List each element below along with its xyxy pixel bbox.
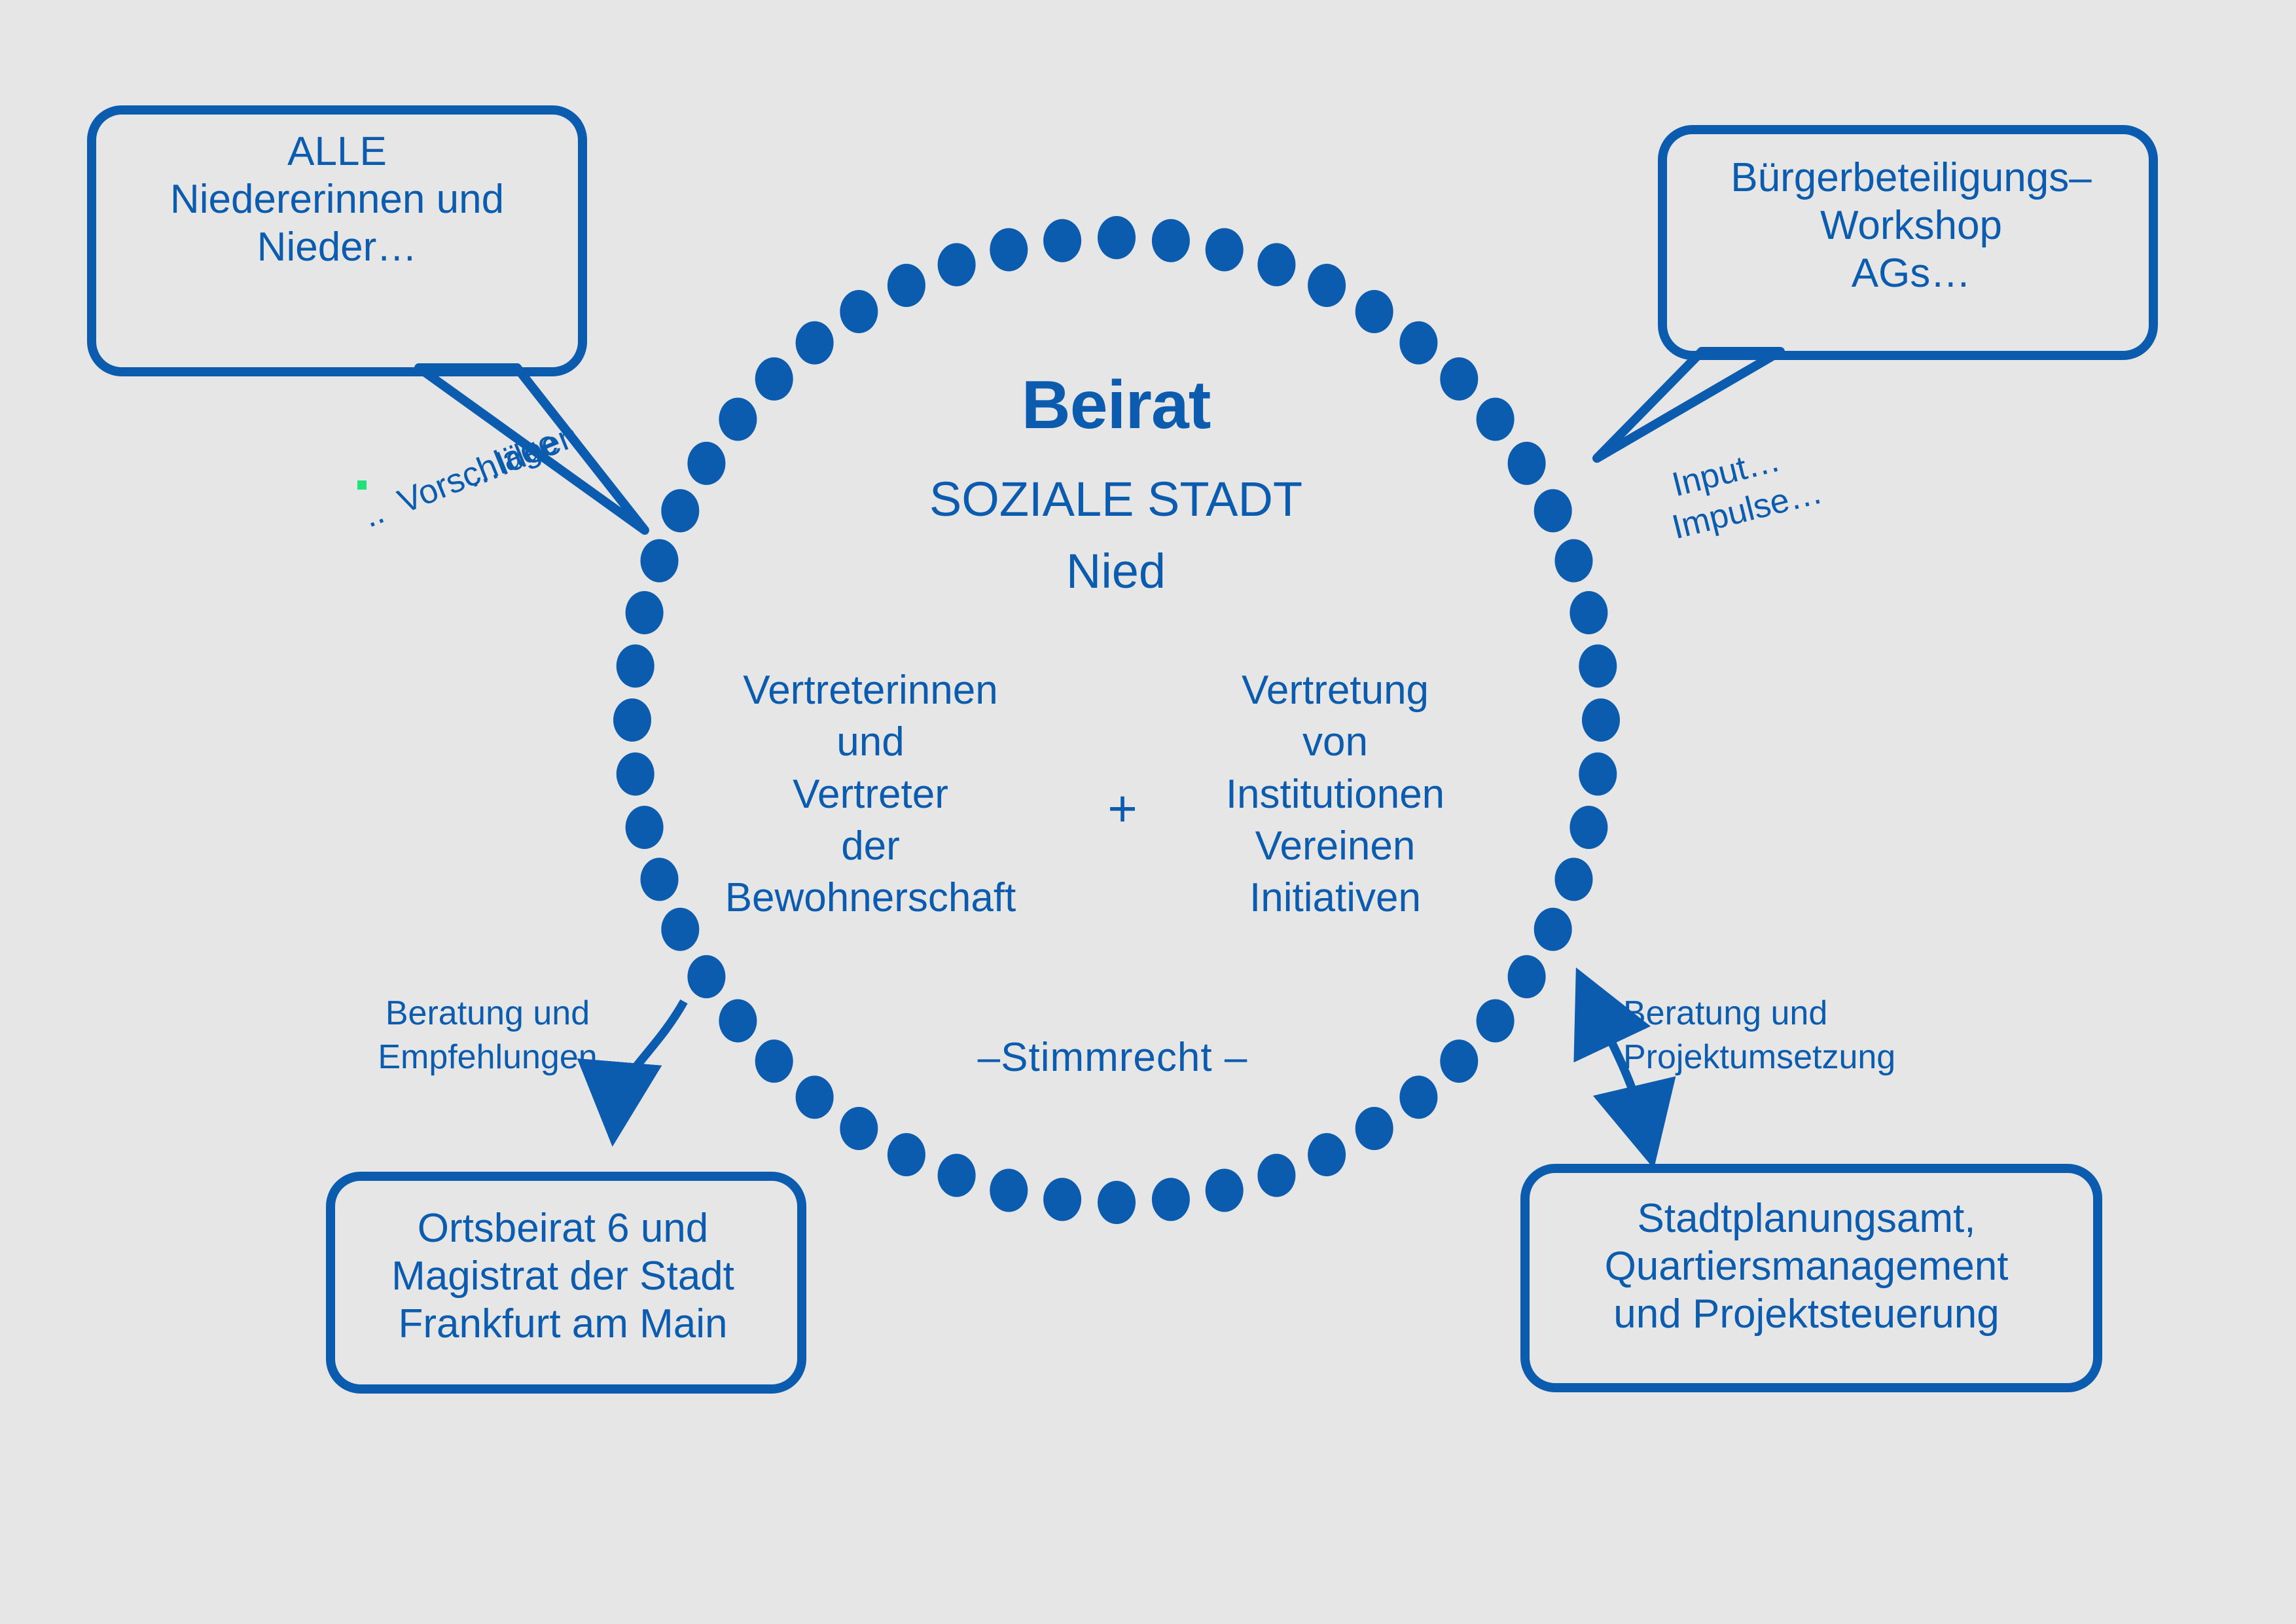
center-subtitle-line1: SOZIALE STADT [785, 471, 1446, 527]
annotation-beratung-projektumsetzung: Beratung und Projektumsetzung [1623, 992, 1964, 1079]
circle-dot [1043, 1178, 1081, 1221]
circle-dot [1508, 955, 1546, 998]
circle-dot [1152, 1178, 1190, 1221]
center-footer-stimmrecht: –Stimmrecht – [884, 1034, 1342, 1081]
center-title: Beirat [785, 367, 1446, 444]
circle-dot [990, 228, 1028, 272]
circle-dot [840, 290, 878, 333]
circle-dot [796, 1075, 834, 1119]
circle-dot [888, 1133, 925, 1176]
circle-dot [1477, 398, 1515, 441]
box-bottom-right[interactable] [1525, 1168, 2098, 1388]
circle-dot [1257, 1154, 1295, 1197]
circle-dot [1355, 290, 1393, 333]
circle-dot [1579, 753, 1617, 796]
circle-dot [1152, 219, 1190, 262]
circle-dot [796, 321, 834, 365]
circle-dot [641, 539, 679, 583]
circle-dot [1308, 264, 1346, 307]
circle-dot [617, 645, 655, 688]
circle-dot [1570, 591, 1607, 634]
circle-dot [1555, 857, 1593, 901]
center-subtitle-line2: Nied [785, 543, 1446, 599]
circle-dot [687, 442, 725, 485]
circle-dot [840, 1107, 878, 1150]
plus-icon: + [1073, 779, 1172, 839]
circle-dot [1399, 1075, 1437, 1119]
circle-dot [1399, 321, 1437, 365]
circle-dot [719, 1000, 757, 1043]
center-column-left: Vertreterinnen und Vertreter der Bewohne… [694, 664, 1047, 924]
circle-dot [719, 398, 757, 441]
circle-dot [626, 591, 664, 634]
circle-dot [613, 698, 651, 742]
diagram-canvas: ALLE Niedererinnen und Nieder… Bürgerbet… [0, 0, 2296, 1624]
circle-dot [617, 753, 655, 796]
circle-dot [1570, 806, 1607, 849]
circle-dot [1440, 1039, 1478, 1083]
circle-dot [1534, 908, 1572, 951]
circle-dot [938, 1154, 976, 1197]
circle-dot [1579, 645, 1617, 688]
speech-bubble-top-right[interactable] [1597, 130, 2153, 458]
circle-dot [990, 1169, 1028, 1212]
center-column-right: Vertretung von Institutionen Vereinen In… [1181, 664, 1489, 924]
circle-dot [1555, 539, 1593, 583]
green-square-marker [357, 480, 367, 490]
circle-dot [1508, 442, 1546, 485]
circle-dot [1043, 219, 1081, 262]
circle-dot [1534, 489, 1572, 532]
speech-bubble-top-left[interactable] [92, 110, 645, 530]
box-bottom-left[interactable] [331, 1176, 802, 1389]
circle-dot [755, 1039, 793, 1083]
circle-dot [1206, 228, 1244, 272]
circle-dot [1355, 1107, 1393, 1150]
circle-dot [1477, 1000, 1515, 1043]
circle-dot [661, 489, 699, 532]
circle-dot [888, 264, 925, 307]
circle-dot [1098, 1181, 1136, 1224]
circle-dot [626, 806, 664, 849]
circle-dot [687, 955, 725, 998]
circle-dot [1582, 698, 1620, 742]
circle-dot [1206, 1169, 1244, 1212]
circle-dot [1257, 243, 1295, 286]
circle-dot [641, 857, 679, 901]
circle-dot [1098, 216, 1136, 259]
circle-dot [1308, 1133, 1346, 1176]
annotation-beratung-empfehlungen: Beratung und Empfehlungen [344, 992, 632, 1079]
circle-dot [938, 243, 976, 286]
